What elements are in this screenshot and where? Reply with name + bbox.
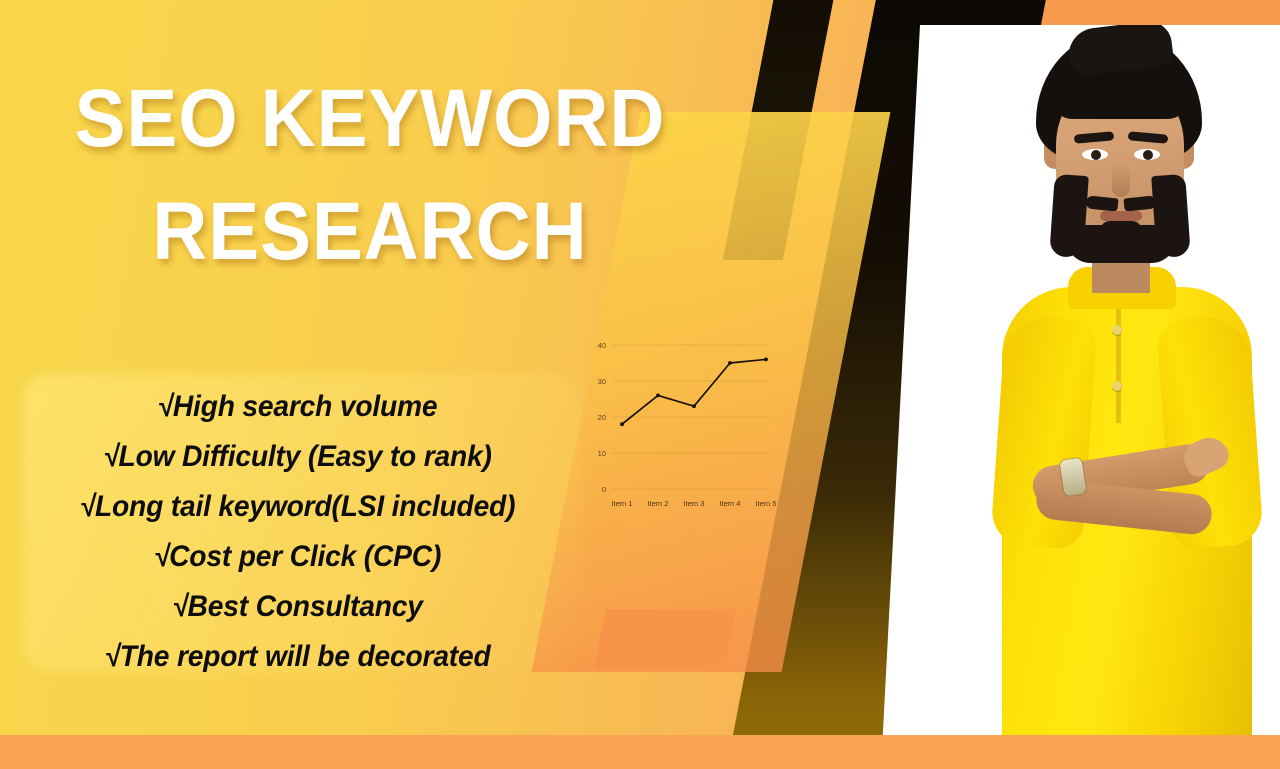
x-tick-label: Item 2: [648, 499, 669, 508]
x-tick-label: Item 5: [756, 499, 777, 508]
chart-svg: 40 30 20 10 0 Item 1 Item 2 Item 3 Item …: [586, 330, 786, 520]
chart-x-axis-labels: Item 1 Item 2 Item 3 Item 4 Item 5: [612, 499, 777, 508]
x-tick-label: Item 1: [612, 499, 633, 508]
y-tick-label: 20: [598, 413, 606, 422]
pupil-left: [1091, 150, 1101, 160]
y-tick-label: 0: [602, 485, 606, 494]
list-item: √Best Consultancy: [18, 582, 577, 632]
y-tick-label: 40: [598, 341, 606, 350]
y-tick-label: 30: [598, 377, 606, 386]
pupil-right: [1143, 150, 1153, 160]
chart-series-line: [620, 358, 768, 427]
list-item: √The report will be decorated: [18, 632, 577, 682]
kurta-button: [1112, 325, 1122, 335]
list-item: √Cost per Click (CPC): [18, 532, 577, 582]
data-point: [764, 358, 768, 362]
feature-list: √High search volume √Low Difficulty (Eas…: [0, 382, 595, 682]
data-point: [656, 394, 660, 398]
data-point: [692, 404, 696, 408]
list-item: √Low Difficulty (Easy to rank): [18, 432, 577, 482]
x-tick-label: Item 3: [684, 499, 705, 508]
seo-keyword-research-poster: SEO KEYWORD RESEARCH √High search volume…: [0, 0, 1280, 769]
y-tick-label: 10: [598, 449, 606, 458]
list-item: √Long tail keyword(LSI included): [18, 482, 577, 532]
nose: [1112, 163, 1130, 197]
chart-gridlines: [612, 345, 768, 489]
orange-bottom-strip: [0, 735, 1280, 769]
kurta-button: [1112, 381, 1122, 391]
growth-line-chart: 40 30 20 10 0 Item 1 Item 2 Item 3 Item …: [586, 330, 786, 520]
kurta-placket: [1116, 293, 1121, 423]
hair-fringe: [1052, 69, 1188, 119]
series-polyline: [622, 359, 766, 424]
data-point: [728, 361, 732, 365]
chart-y-axis-labels: 40 30 20 10 0: [598, 341, 606, 494]
orange-accent-block: [594, 609, 736, 669]
data-point: [620, 422, 624, 426]
portrait-photo: [940, 25, 1280, 747]
x-tick-label: Item 4: [720, 499, 741, 508]
lips: [1100, 211, 1142, 221]
list-item: √High search volume: [18, 382, 577, 432]
page-title: SEO KEYWORD RESEARCH: [26, 62, 714, 288]
goatee: [1100, 221, 1142, 251]
